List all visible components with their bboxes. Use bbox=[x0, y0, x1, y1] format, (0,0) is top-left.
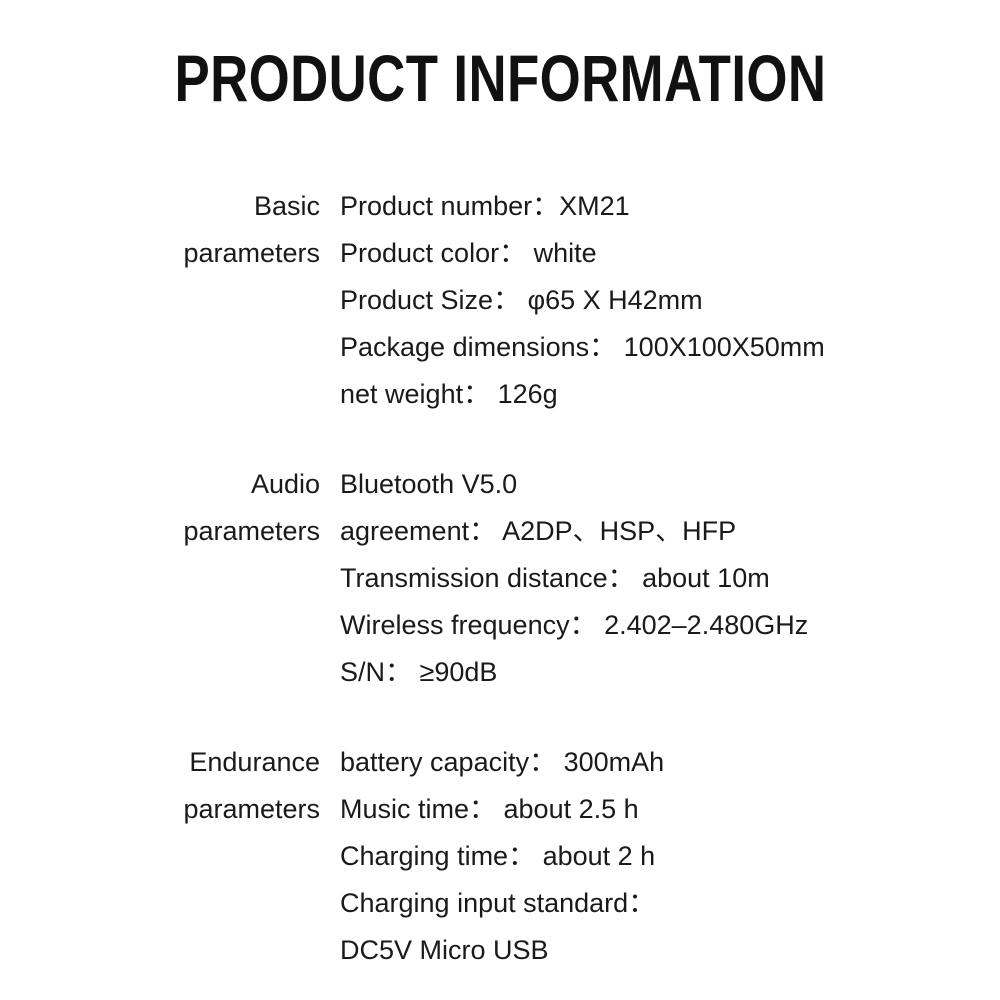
spec-group-label: Basic parameters bbox=[148, 183, 320, 277]
spec-group-label-line: parameters bbox=[148, 508, 320, 555]
spec-row-value: 126g bbox=[490, 379, 558, 409]
page-title-container: PRODUCT INFORMATION bbox=[0, 43, 1000, 113]
spec-row: DC5V Micro USB bbox=[340, 927, 1000, 974]
spec-row-key: Transmission distance bbox=[340, 563, 608, 593]
spec-row: Charging time： about 2 h bbox=[340, 833, 1000, 880]
spec-row: net weight： 126g bbox=[340, 371, 1000, 418]
spec-row-value: XM21 bbox=[559, 191, 630, 221]
spec-row-colon: ： bbox=[508, 841, 535, 871]
spec-group-label-line: Audio bbox=[148, 461, 320, 508]
spec-group-label-line: Endurance bbox=[148, 739, 320, 786]
spec-row-colon: ： bbox=[570, 610, 597, 640]
spec-row-key: Music time bbox=[340, 794, 469, 824]
spec-row: S/N： ≥90dB bbox=[340, 649, 1000, 696]
spec-row-colon: ： bbox=[532, 191, 559, 221]
spec-row-colon: ： bbox=[628, 888, 655, 918]
spec-row-key: agreement bbox=[340, 516, 469, 546]
spec-row: Product Size： φ65 X H42mm bbox=[340, 277, 1000, 324]
spec-row: Bluetooth V5.0 bbox=[340, 461, 1000, 508]
spec-row-value: A2DP、HSP、HFP bbox=[496, 516, 736, 546]
spec-row-colon: ： bbox=[463, 379, 490, 409]
spec-row-colon: ： bbox=[493, 285, 520, 315]
spec-row: battery capacity： 300mAh bbox=[340, 739, 1000, 786]
spec-group-label: Audio parameters bbox=[148, 461, 320, 555]
spec-row-key: DC5V Micro USB bbox=[340, 935, 549, 965]
spec-row: Product color： white bbox=[340, 230, 1000, 277]
spec-row: Product number：XM21 bbox=[340, 183, 1000, 230]
product-information-sheet: PRODUCT INFORMATION Basic parameters Pro… bbox=[0, 0, 1000, 1000]
spec-row-colon: ： bbox=[608, 563, 635, 593]
spec-row-key: Product Size bbox=[340, 285, 493, 315]
spec-row-colon: ： bbox=[529, 747, 556, 777]
spec-row-colon: ： bbox=[385, 657, 412, 687]
spec-row-key: Bluetooth V5.0 bbox=[340, 469, 517, 499]
spec-row-value: about 2.5 h bbox=[496, 794, 639, 824]
spec-row-colon: ： bbox=[469, 516, 496, 546]
spec-row-value: 2.402–2.480GHz bbox=[597, 610, 809, 640]
spec-group: Audio parameters Bluetooth V5.0 agreemen… bbox=[0, 461, 1000, 696]
spec-row-key: battery capacity bbox=[340, 747, 529, 777]
spec-row-key: Wireless frequency bbox=[340, 610, 570, 640]
spec-row: agreement： A2DP、HSP、HFP bbox=[340, 508, 1000, 555]
spec-row: Charging input standard： bbox=[340, 880, 1000, 927]
spec-row-value: 100X100X50mm bbox=[616, 332, 825, 362]
page-title: PRODUCT INFORMATION bbox=[174, 43, 826, 113]
spec-group: Basic parameters Product number：XM21 Pro… bbox=[0, 183, 1000, 418]
spec-row-key: Product color bbox=[340, 238, 499, 268]
spec-group-label-line: parameters bbox=[148, 786, 320, 833]
spec-row: Transmission distance： about 10m bbox=[340, 555, 1000, 602]
spec-row-value: white bbox=[526, 238, 597, 268]
spec-row-value: about 2 h bbox=[535, 841, 655, 871]
spec-row: Wireless frequency： 2.402–2.480GHz bbox=[340, 602, 1000, 649]
spec-row-key: net weight bbox=[340, 379, 463, 409]
spec-row-key: Charging input standard bbox=[340, 888, 628, 918]
spec-group: Endurance parameters battery capacity： 3… bbox=[0, 739, 1000, 974]
spec-row-key: Product number bbox=[340, 191, 532, 221]
spec-row-list: battery capacity： 300mAh Music time： abo… bbox=[340, 739, 1000, 974]
spec-row: Music time： about 2.5 h bbox=[340, 786, 1000, 833]
spec-row-key: Package dimensions bbox=[340, 332, 589, 362]
spec-group-label-line: Basic bbox=[148, 183, 320, 230]
spec-row-value: 300mAh bbox=[556, 747, 664, 777]
spec-row-key: S/N bbox=[340, 657, 385, 687]
spec-row: Package dimensions： 100X100X50mm bbox=[340, 324, 1000, 371]
spec-row-value: φ65 X H42mm bbox=[520, 285, 703, 315]
spec-row-value: ≥90dB bbox=[412, 657, 497, 687]
spec-row-colon: ： bbox=[469, 794, 496, 824]
spec-row-list: Product number：XM21 Product color： white… bbox=[340, 183, 1000, 418]
spec-row-list: Bluetooth V5.0 agreement： A2DP、HSP、HFP T… bbox=[340, 461, 1000, 696]
spec-row-value: about 10m bbox=[635, 563, 770, 593]
spec-group-label-line: parameters bbox=[148, 230, 320, 277]
spec-row-colon: ： bbox=[499, 238, 526, 268]
spec-group-list: Basic parameters Product number：XM21 Pro… bbox=[0, 183, 1000, 974]
spec-group-label: Endurance parameters bbox=[148, 739, 320, 833]
spec-row-colon: ： bbox=[589, 332, 616, 362]
spec-row-key: Charging time bbox=[340, 841, 508, 871]
